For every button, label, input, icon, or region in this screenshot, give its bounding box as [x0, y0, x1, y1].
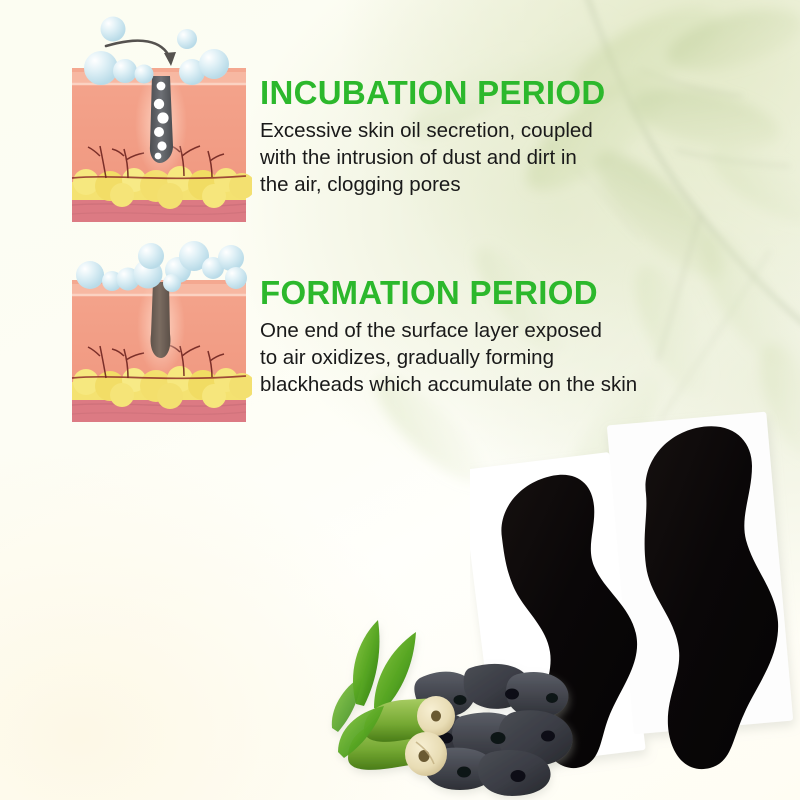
ingredient-bamboo-charcoal — [312, 612, 582, 800]
blackhead-plug — [151, 282, 171, 358]
diagram-incubation-clogged-pore — [66, 6, 252, 228]
product-infographic-poster: INCUBATION PERIOD Excessive skin oil sec… — [0, 0, 800, 800]
section-formation: FORMATION PERIOD One end of the surface … — [260, 276, 637, 398]
body-incubation: Excessive skin oil secretion, coupled wi… — [260, 117, 606, 199]
body-formation: One end of the surface layer exposed to … — [260, 317, 637, 399]
body-line: blackheads which accumulate on the skin — [260, 371, 637, 398]
body-line: to air oxidizes, gradually forming — [260, 344, 637, 371]
body-line: with the intrusion of dust and dirt in — [260, 144, 606, 171]
heading-formation: FORMATION PERIOD — [260, 276, 637, 311]
heading-incubation: INCUBATION PERIOD — [260, 76, 606, 111]
body-line: One end of the surface layer exposed — [260, 317, 637, 344]
diagram-formation-blackhead — [66, 238, 252, 428]
section-incubation: INCUBATION PERIOD Excessive skin oil sec… — [260, 76, 606, 198]
body-line: Excessive skin oil secretion, coupled — [260, 117, 606, 144]
body-line: the air, clogging pores — [260, 171, 606, 198]
